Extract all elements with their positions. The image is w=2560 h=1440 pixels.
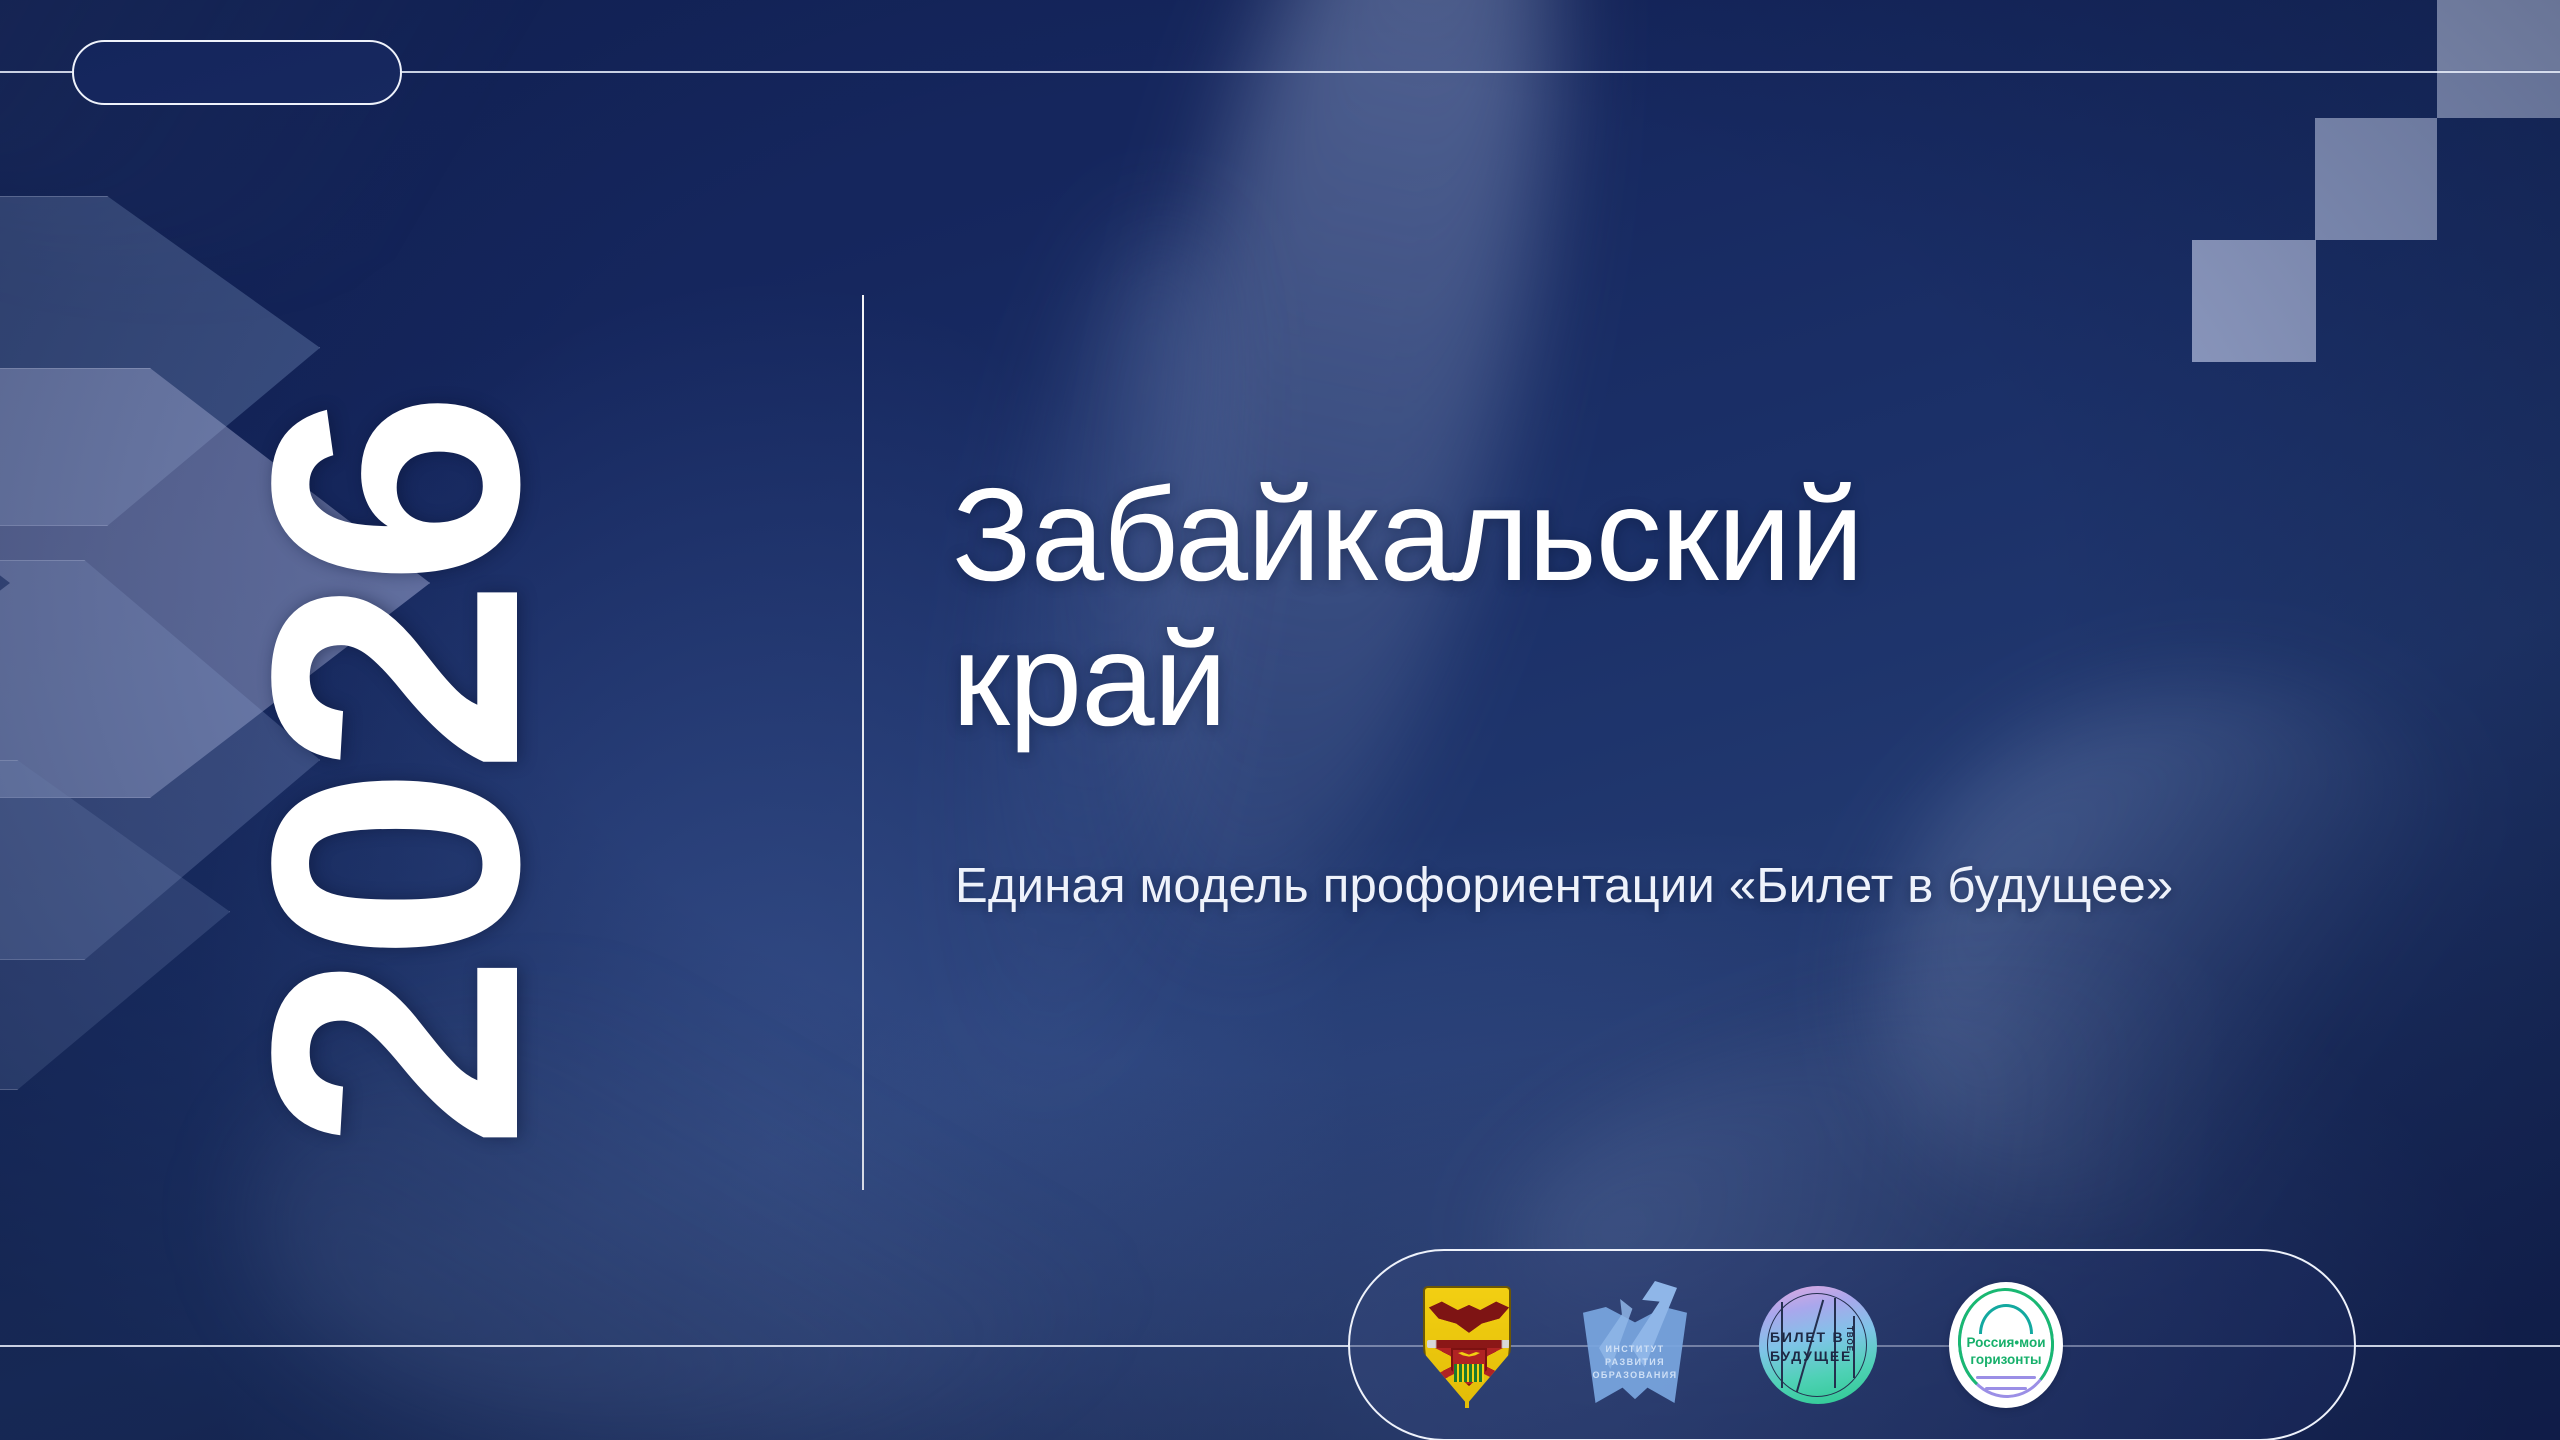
step-square [2437, 0, 2560, 70]
step-square [2192, 240, 2316, 362]
institute-logo-text: ИНСТИТУТ РАЗВИТИЯ ОБРАЗОВАНИЯ [1591, 1343, 1679, 1382]
eagle-icon [1429, 1300, 1509, 1342]
year-label: 2026 [219, 324, 571, 1224]
gorizonty-line-1: Россия•мои [1956, 1334, 2056, 1351]
step-square [2070, 240, 2192, 362]
page-subtitle: Единая модель профориентации «Билет в бу… [955, 858, 2405, 914]
shield-shape [1423, 1286, 1511, 1404]
light-streak [0, 0, 720, 260]
logo-strip: ИНСТИТУТ РАЗВИТИЯ ОБРАЗОВАНИЯ БИЛЕТ В БУ… [1395, 1255, 2255, 1435]
chevron-decoration [0, 760, 230, 1090]
rossiya-moi-gorizonty-icon: Россия•мои горизонты [1949, 1282, 2063, 1408]
accent-dash [1985, 1387, 2027, 1390]
shield-tip [1465, 1394, 1469, 1408]
vertical-divider [862, 295, 864, 1190]
page-title: Забайкальский край [952, 462, 2352, 752]
presentation-slide: 2026 Забайкальский край Единая модель пр… [0, 0, 2560, 1440]
title-line-2: край [952, 607, 2352, 752]
header-pill [72, 40, 402, 105]
bilet-v-budushchee-icon: БИЛЕТ В БУДУЩЕЕ ТВОЕ [1759, 1286, 1877, 1404]
institute-line-3: ОБРАЗОВАНИЯ [1591, 1369, 1679, 1382]
step-square [2437, 70, 2560, 118]
accent-dash [1976, 1376, 2036, 1379]
institute-of-education-development-icon: ИНСТИТУТ РАЗВИТИЯ ОБРАЗОВАНИЯ [1583, 1281, 1687, 1409]
title-line-1: Забайкальский [952, 462, 2352, 607]
coat-of-arms-icon [1423, 1286, 1511, 1404]
step-square [2193, 118, 2315, 240]
gorizonty-line-2: горизонты [1956, 1351, 2056, 1368]
gorizonty-logo-text: Россия•мои горизонты [1956, 1334, 2056, 1369]
bilet-side-word: ТВОЕ [1845, 1326, 1854, 1352]
step-square [2315, 118, 2437, 240]
arrows-icon [1427, 1340, 1511, 1348]
institute-line-2: РАЗВИТИЯ [1591, 1356, 1679, 1369]
palisade-icon [1454, 1364, 1484, 1382]
institute-line-1: ИНСТИТУТ [1591, 1343, 1679, 1356]
